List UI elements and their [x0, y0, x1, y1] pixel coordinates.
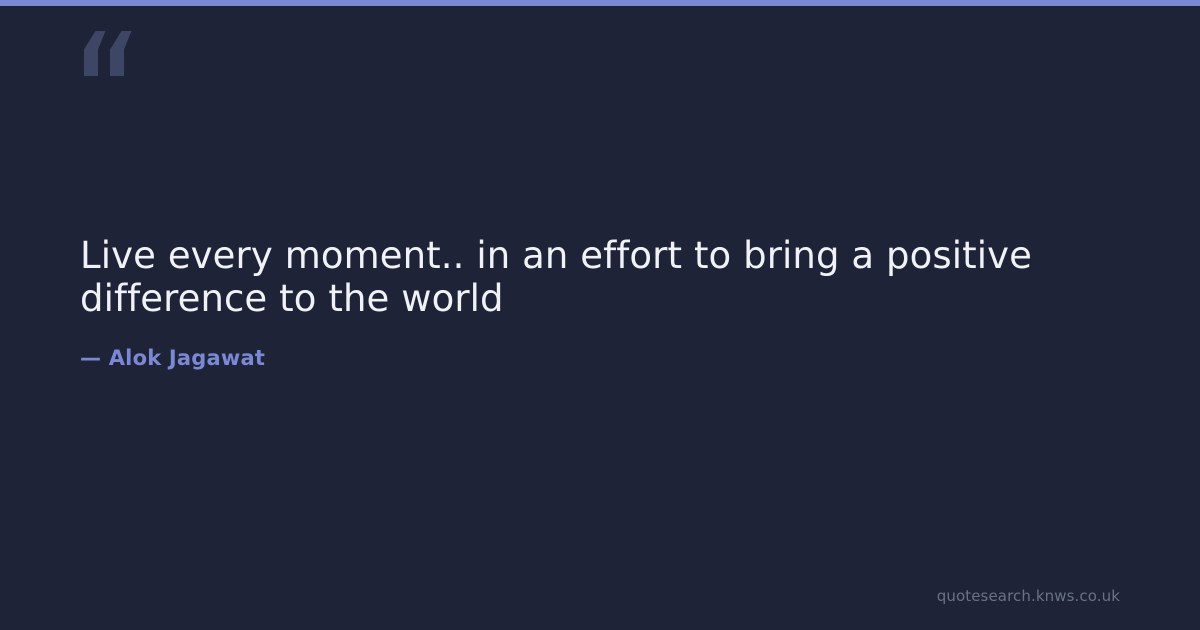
- quote-attribution: — Alok Jagawat: [80, 320, 1080, 371]
- author-name: Alok Jagawat: [109, 346, 265, 370]
- quote-content: Live every moment.. in an effort to brin…: [80, 234, 1080, 371]
- top-accent-bar: [0, 0, 1200, 6]
- double-quote-icon: [78, 18, 148, 88]
- quote-text: Live every moment.. in an effort to brin…: [80, 234, 1045, 320]
- attribution-dash: —: [80, 346, 101, 370]
- quote-card: Live every moment.. in an effort to brin…: [0, 0, 1200, 630]
- source-watermark: quotesearch.knws.co.uk: [937, 587, 1120, 605]
